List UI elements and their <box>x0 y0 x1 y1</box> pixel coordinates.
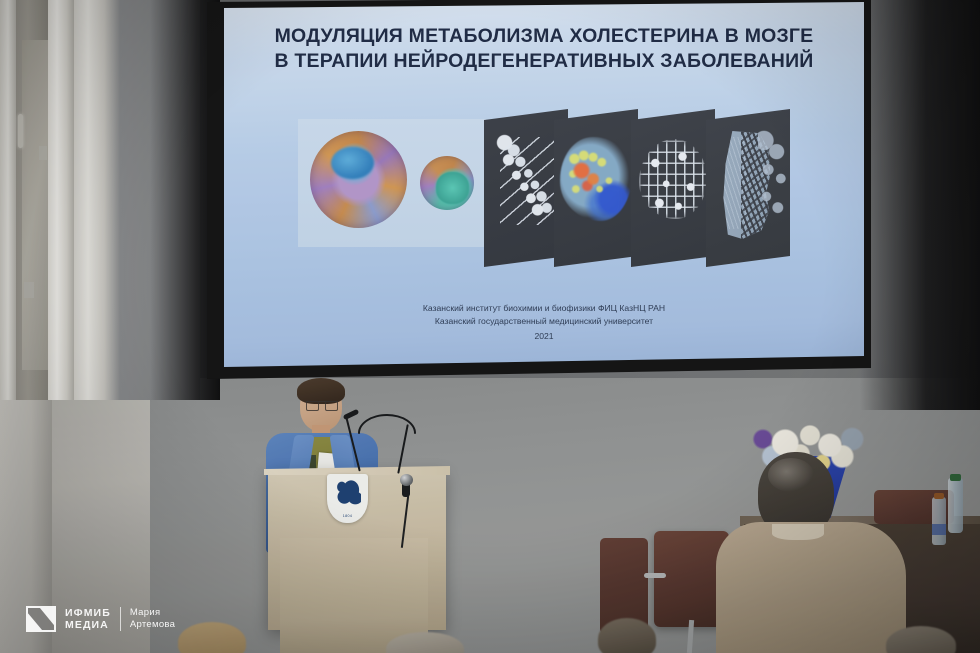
watermark-author-first-name: Мария <box>130 607 175 619</box>
slide-footer-institute-1: Казанский институт биохимии и биофизики … <box>240 302 848 315</box>
zilant-dragon-icon <box>335 480 361 509</box>
projection-screen: МОДУЛЯЦИЯ МЕТАБОЛИЗМА ХОЛЕСТЕРИНА В МОЗГ… <box>224 2 864 367</box>
brain-scan-panel <box>554 109 638 267</box>
slide-title-line-2: В ТЕРАПИИ НЕЙРОДЕГЕНЕРАТИВНЫХ ЗАБОЛЕВАНИ… <box>240 49 848 74</box>
slide-title-line-1: МОДУЛЯЦИЯ МЕТАБОЛИЗМА ХОЛЕСТЕРИНА В МОЗГ… <box>240 24 848 49</box>
water-bottle-front-cap <box>934 493 944 499</box>
microphone-capsule-right <box>400 474 413 486</box>
watermark-brand-line-2: МЕДИА <box>65 619 111 631</box>
circuit-brain-panel <box>631 109 715 267</box>
brain-scan-icon <box>560 137 632 221</box>
water-bottle-front <box>932 497 946 545</box>
ifmib-logo-icon <box>26 606 56 632</box>
glasses-icon <box>306 401 338 410</box>
shadow-right <box>860 0 980 410</box>
door-latch-plate <box>39 146 47 160</box>
watermark-divider <box>120 607 121 631</box>
wall-pillar-outer <box>0 0 16 400</box>
attendee-hair-highlight <box>768 458 814 492</box>
slide-year: 2021 <box>240 330 848 343</box>
dissolving-head-panel <box>706 109 790 267</box>
molecule-icon <box>494 133 560 229</box>
lipoprotein-large-icon <box>310 131 407 228</box>
particle-specks-icon <box>758 127 788 239</box>
wall-pillar <box>48 0 74 400</box>
slide-title: МОДУЛЯЦИЯ МЕТАБОЛИЗМА ХОЛЕСТЕРИНА В МОЗГ… <box>240 24 848 74</box>
attendee-collar <box>772 524 824 540</box>
attendee-foreground <box>716 452 916 653</box>
watermark-author: Мария Артемова <box>130 607 175 631</box>
slide-footer: Казанский институт биохимии и биофизики … <box>240 302 848 343</box>
water-bottle-back-cap <box>950 474 961 481</box>
attendee-sweater <box>716 522 906 653</box>
crest-year-label: 1804 <box>327 514 368 518</box>
audience-head <box>598 618 656 653</box>
watermark-brand: ИФМИБ МЕДИА <box>65 607 111 631</box>
door-handle[interactable] <box>18 114 23 148</box>
circuit-brain-icon <box>639 139 707 219</box>
chair-armrest <box>644 573 666 578</box>
watermark-brand-line-1: ИФМИБ <box>65 607 111 619</box>
watermark-author-last-name: Артемова <box>130 619 175 631</box>
podium-crest: 1804 <box>327 474 368 523</box>
watermark: ИФМИБ МЕДИА Мария Артемова <box>26 606 175 632</box>
water-bottle-front-label <box>932 524 946 535</box>
water-bottle-back <box>948 478 963 533</box>
slide-figure-group <box>298 109 798 281</box>
wall-switch[interactable] <box>24 282 34 298</box>
slide-footer-institute-2: Казанский государственный медицинский ун… <box>240 315 848 328</box>
photo-stage: МОДУЛЯЦИЯ МЕТАБОЛИЗМА ХОЛЕСТЕРИНА В МОЗГ… <box>0 0 980 653</box>
lipoprotein-small-icon <box>420 156 474 210</box>
